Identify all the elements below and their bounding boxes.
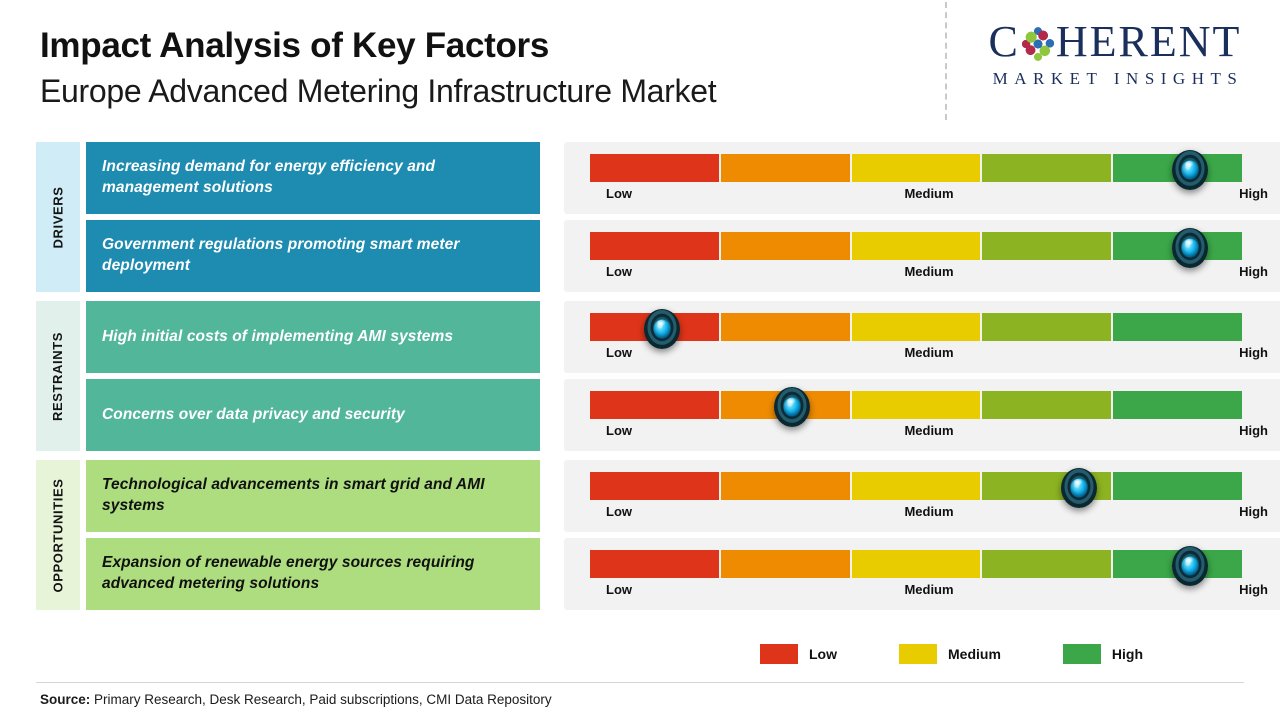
category-band-drivers: DRIVERS — [36, 142, 80, 292]
header: Impact Analysis of Key Factors Europe Ad… — [40, 26, 716, 111]
legend-swatch — [760, 644, 798, 664]
gauge-scale-labels: LowMediumHigh — [590, 186, 1268, 206]
factor-row: Government regulations promoting smart m… — [86, 220, 1248, 292]
gauge-bar — [590, 550, 1242, 578]
gauge-segment-3 — [852, 472, 981, 500]
company-logo: C HERENT MARKET INSIGHTS — [965, 20, 1265, 89]
impact-marker[interactable] — [1061, 468, 1097, 508]
gauge-segment-5 — [1113, 313, 1242, 341]
gauge-segment-1 — [590, 232, 719, 260]
scale-label-high: High — [1239, 345, 1268, 360]
scale-label-high: High — [1239, 186, 1268, 201]
factor-row: High initial costs of implementing AMI s… — [86, 301, 1248, 373]
factor-box: Concerns over data privacy and security — [86, 379, 540, 451]
factor-text: Increasing demand for energy efficiency … — [102, 157, 524, 199]
gauge-segment-3 — [852, 391, 981, 419]
impact-gauge: LowMediumHigh — [564, 142, 1280, 214]
logo-divider — [945, 2, 947, 120]
legend: LowMediumHigh — [760, 644, 1143, 664]
scale-label-med: Medium — [590, 582, 1268, 597]
gauge-scale-labels: LowMediumHigh — [590, 345, 1268, 365]
impact-marker[interactable] — [644, 309, 680, 349]
factor-row: Expansion of renewable energy sources re… — [86, 538, 1248, 610]
scale-label-med: Medium — [590, 423, 1268, 438]
gauge-scale-labels: LowMediumHigh — [590, 423, 1268, 443]
impact-gauge: LowMediumHigh — [564, 460, 1280, 532]
logo-tagline: MARKET INSIGHTS — [965, 69, 1265, 89]
gauge-segment-2 — [721, 154, 850, 182]
gauge-segment-4 — [982, 391, 1111, 419]
legend-label: Low — [809, 646, 837, 662]
scale-label-med: Medium — [590, 186, 1268, 201]
factor-text: Concerns over data privacy and security — [102, 405, 405, 426]
gauge-segment-5 — [1113, 391, 1242, 419]
gauge-segment-2 — [721, 313, 850, 341]
gauge-segment-3 — [852, 232, 981, 260]
gauge-bar — [590, 391, 1242, 419]
gauge-segment-4 — [982, 232, 1111, 260]
gauge-segment-1 — [590, 472, 719, 500]
gauge-segment-3 — [852, 313, 981, 341]
factor-text: Expansion of renewable energy sources re… — [102, 553, 524, 595]
category-label: OPPORTUNITIES — [51, 478, 66, 592]
logo-rest: HERENT — [1056, 20, 1242, 64]
gauge-segment-4 — [982, 550, 1111, 578]
gauge-segment-3 — [852, 550, 981, 578]
scale-label-med: Medium — [590, 345, 1268, 360]
gauge-segment-4 — [982, 154, 1111, 182]
infographic-page: Impact Analysis of Key Factors Europe Ad… — [0, 0, 1280, 720]
legend-item: Low — [760, 644, 837, 664]
legend-item: High — [1063, 644, 1143, 664]
factor-box: Expansion of renewable energy sources re… — [86, 538, 540, 610]
factor-row: Increasing demand for energy efficiency … — [86, 142, 1248, 214]
logo-letter-c: C — [989, 20, 1020, 64]
factor-box: Government regulations promoting smart m… — [86, 220, 540, 292]
impact-marker[interactable] — [1172, 228, 1208, 268]
factor-text: High initial costs of implementing AMI s… — [102, 327, 453, 348]
legend-label: Medium — [948, 646, 1001, 662]
impact-marker[interactable] — [774, 387, 810, 427]
factor-text: Government regulations promoting smart m… — [102, 235, 524, 277]
source-text: Primary Research, Desk Research, Paid su… — [90, 692, 551, 707]
category-label: RESTRAINTS — [51, 331, 66, 420]
gauge-segment-3 — [852, 154, 981, 182]
factor-row: Concerns over data privacy and securityL… — [86, 379, 1248, 451]
legend-item: Medium — [899, 644, 1001, 664]
factor-box: Technological advancements in smart grid… — [86, 460, 540, 532]
scale-label-high: High — [1239, 582, 1268, 597]
impact-marker[interactable] — [1172, 546, 1208, 586]
factor-row: Technological advancements in smart grid… — [86, 460, 1248, 532]
gauge-bar — [590, 154, 1242, 182]
factor-box: High initial costs of implementing AMI s… — [86, 301, 540, 373]
gauge-segment-1 — [590, 154, 719, 182]
legend-swatch — [899, 644, 937, 664]
scale-label-high: High — [1239, 504, 1268, 519]
scale-label-high: High — [1239, 423, 1268, 438]
category-band-restraints: RESTRAINTS — [36, 301, 80, 451]
legend-swatch — [1063, 644, 1101, 664]
page-title: Impact Analysis of Key Factors — [40, 26, 716, 66]
gauge-bar — [590, 232, 1242, 260]
factor-text: Technological advancements in smart grid… — [102, 475, 524, 517]
impact-gauge: LowMediumHigh — [564, 379, 1280, 451]
gauge-segment-2 — [721, 550, 850, 578]
category-band-opportunities: OPPORTUNITIES — [36, 460, 80, 610]
source-footer: Source: Primary Research, Desk Research,… — [40, 692, 552, 707]
impact-marker[interactable] — [1172, 150, 1208, 190]
scale-label-med: Medium — [590, 264, 1268, 279]
gauge-segment-5 — [1113, 472, 1242, 500]
gauge-segment-1 — [590, 550, 719, 578]
globe-icon — [1021, 27, 1055, 61]
impact-gauge: LowMediumHigh — [564, 220, 1280, 292]
category-label: DRIVERS — [51, 186, 66, 248]
gauge-segment-4 — [982, 313, 1111, 341]
gauge-scale-labels: LowMediumHigh — [590, 582, 1268, 602]
impact-gauge: LowMediumHigh — [564, 301, 1280, 373]
gauge-segment-2 — [721, 232, 850, 260]
factor-box: Increasing demand for energy efficiency … — [86, 142, 540, 214]
legend-label: High — [1112, 646, 1143, 662]
gauge-segment-2 — [721, 472, 850, 500]
source-label: Source: — [40, 692, 90, 707]
gauge-scale-labels: LowMediumHigh — [590, 504, 1268, 524]
page-subtitle: Europe Advanced Metering Infrastructure … — [40, 72, 716, 110]
gauge-bar — [590, 472, 1242, 500]
impact-gauge: LowMediumHigh — [564, 538, 1280, 610]
gauge-bar — [590, 313, 1242, 341]
footer-divider — [36, 682, 1244, 683]
logo-wordmark: C HERENT — [965, 20, 1265, 64]
gauge-scale-labels: LowMediumHigh — [590, 264, 1268, 284]
scale-label-high: High — [1239, 264, 1268, 279]
scale-label-med: Medium — [590, 504, 1268, 519]
gauge-segment-1 — [590, 391, 719, 419]
